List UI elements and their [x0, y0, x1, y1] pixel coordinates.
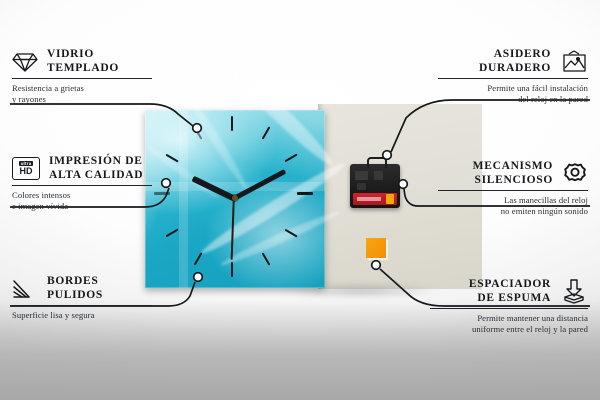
feature-title-line1: BORDES	[47, 275, 103, 289]
mechanism-hanger-icon	[367, 157, 387, 168]
feature-divider	[12, 305, 152, 306]
feature-header: ESPACIADOR DE ESPUMA	[430, 278, 588, 305]
infographic-canvas: VIDRIO TEMPLADO Resistencia a grietas y …	[0, 0, 600, 400]
feature-title-line2: ALTA CALIDAD	[49, 169, 143, 183]
clock-center-cap	[232, 195, 238, 201]
feature-impresion-alta-calidad[interactable]: ultra HD IMPRESIÓN DE ALTA CALIDAD Color…	[12, 155, 152, 211]
glass-streak	[218, 54, 337, 170]
diamond-icon	[12, 51, 38, 73]
wall-clock-face	[145, 110, 325, 288]
feature-header: MECANISMO SILENCIOSO	[438, 160, 588, 187]
feature-divider	[12, 185, 152, 186]
feature-title-line1: VIDRIO	[47, 48, 119, 62]
feature-title-line1: IMPRESIÓN DE	[49, 155, 143, 169]
feature-desc-line1: Resistencia a grietas	[12, 83, 152, 93]
feature-divider	[430, 308, 588, 309]
feature-desc-line2: uniforme entre el reloj y la pared	[430, 324, 588, 334]
feature-desc-line2: no emiten ningún sonido	[438, 206, 588, 216]
feature-divider	[438, 78, 588, 79]
clock-tick-7	[194, 252, 203, 265]
glass-grid-line	[145, 182, 325, 191]
feature-header: BORDES PULIDOS	[12, 275, 152, 302]
feature-divider	[438, 190, 588, 191]
picture-frame-hanger-icon	[560, 50, 588, 74]
feature-desc-line2: y rayones	[12, 94, 152, 104]
feature-desc-line1: Permite mantener una distancia	[430, 313, 588, 323]
foam-spacer	[366, 238, 386, 258]
feature-desc-line2: e imagen vívida	[12, 201, 152, 211]
feature-espaciador-espuma[interactable]: ESPACIADOR DE ESPUMA Permite mantener un…	[430, 278, 588, 334]
feature-divider	[12, 78, 152, 79]
feature-title-line2: DE ESPUMA	[469, 292, 551, 306]
battery	[353, 193, 397, 205]
clock-tick-12	[231, 116, 233, 131]
feature-title-line2: DURADERO	[479, 62, 551, 76]
feature-title-line2: PULIDOS	[47, 289, 103, 303]
mechanism-slot	[374, 171, 383, 180]
feature-title-line2: SILENCIOSO	[473, 174, 553, 188]
feature-title-line1: MECANISMO	[473, 160, 553, 174]
feature-desc-line1: Las manecillas del reloj	[438, 195, 588, 205]
battery-label	[357, 197, 381, 201]
feature-header: VIDRIO TEMPLADO	[12, 48, 152, 75]
feature-mecanismo-silencioso[interactable]: MECANISMO SILENCIOSO Las manecillas del …	[438, 160, 588, 216]
clock-tick-5	[262, 252, 271, 265]
battery-positive-terminal	[386, 194, 394, 204]
polished-edges-icon	[12, 278, 38, 300]
clock-tick-9	[154, 192, 170, 195]
clock-tick-1	[262, 126, 271, 139]
feature-bordes-pulidos[interactable]: BORDES PULIDOS Superficie lisa y segura	[12, 275, 152, 321]
feature-title-line1: ASIDERO	[479, 48, 551, 62]
badge-hd-label: HD	[20, 167, 33, 176]
feature-desc-line2: del reloj en la pared	[438, 94, 588, 104]
feature-title-line1: ESPACIADOR	[469, 278, 551, 292]
feature-header: ASIDERO DURADERO	[438, 48, 588, 75]
feature-title-line2: TEMPLADO	[47, 62, 119, 76]
feature-header: ultra HD IMPRESIÓN DE ALTA CALIDAD	[12, 155, 152, 182]
clock-tick-6	[231, 262, 233, 277]
gear-icon	[562, 162, 588, 186]
clock-mechanism	[350, 164, 400, 208]
clock-tick-8	[166, 228, 179, 237]
feature-desc-line1: Superficie lisa y segura	[12, 310, 152, 320]
feature-asidero-duradero[interactable]: ASIDERO DURADERO Permite una fácil insta…	[438, 48, 588, 104]
mechanism-slot	[357, 183, 366, 190]
foam-spacer-arrow-icon	[560, 279, 588, 305]
clock-tick-11	[194, 126, 203, 139]
product-photo	[118, 100, 482, 300]
ultra-hd-badge-icon: ultra HD	[12, 157, 40, 180]
feature-vidrio-templado[interactable]: VIDRIO TEMPLADO Resistencia a grietas y …	[12, 48, 152, 104]
glass-streak	[219, 208, 341, 269]
clock-tick-3	[297, 192, 313, 195]
mechanism-slot	[355, 171, 368, 180]
feature-desc-line1: Colores intensos	[12, 190, 152, 200]
feature-desc-line1: Permite una fácil instalación	[438, 83, 588, 93]
glass-grid-line	[179, 110, 188, 288]
clock-tick-2	[285, 153, 298, 162]
